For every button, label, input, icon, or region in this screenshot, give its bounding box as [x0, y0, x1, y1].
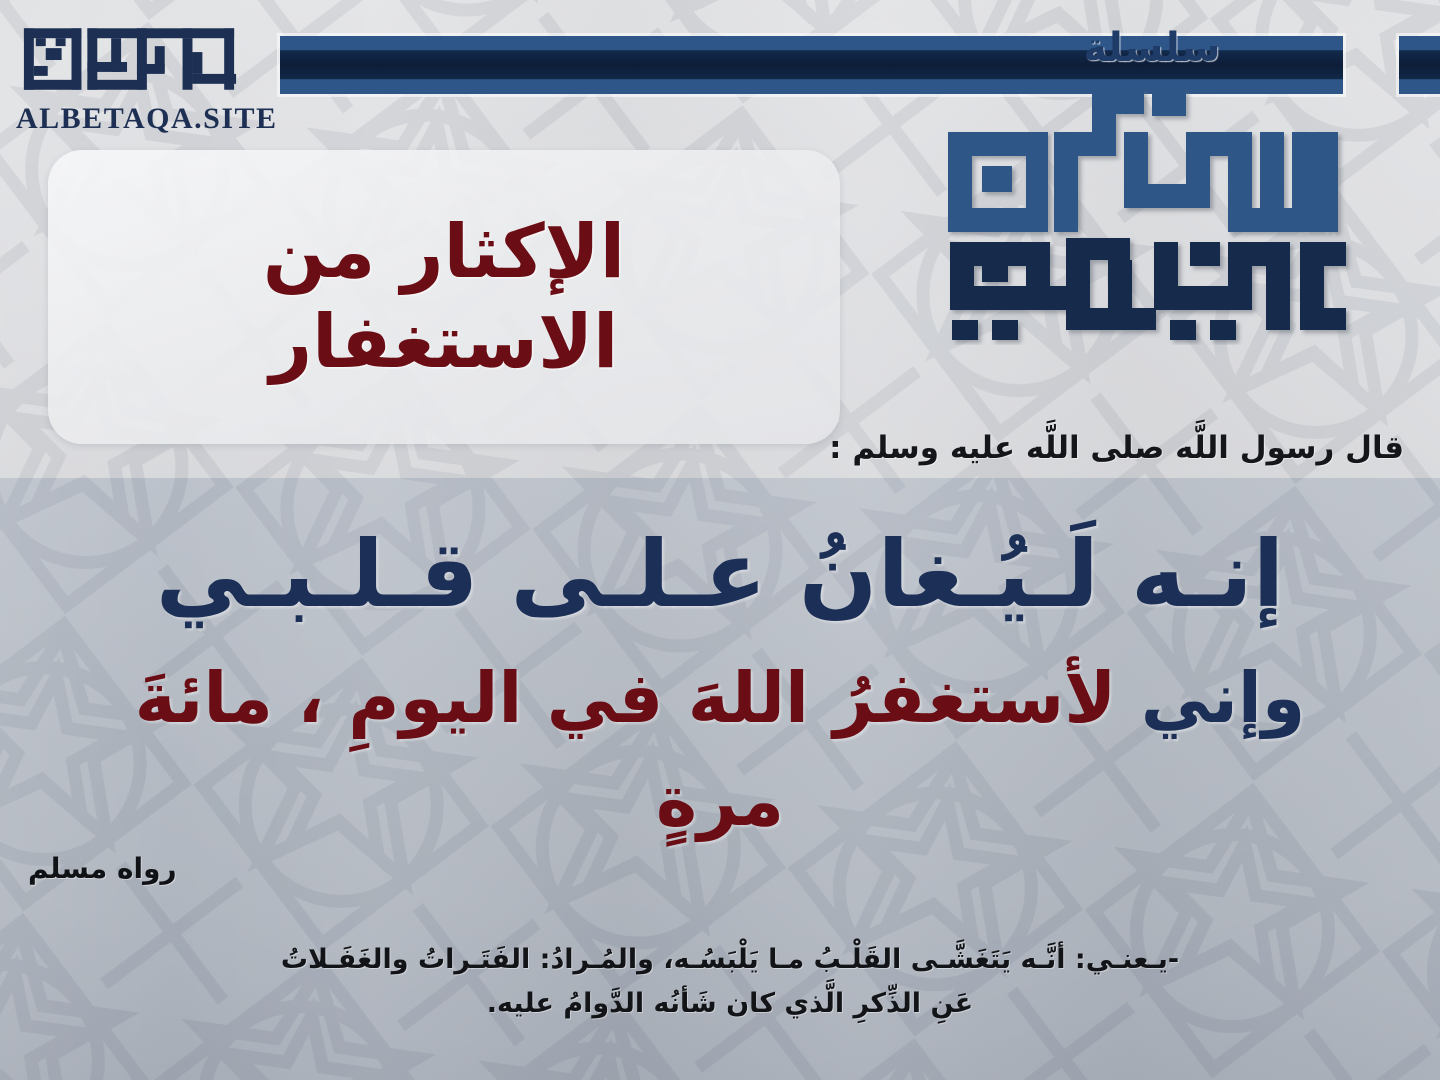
- series-logo: سلسلة: [942, 28, 1362, 345]
- brand-logo[interactable]: ALBETAQA.SITE: [16, 22, 266, 134]
- title-panel: الإكثار من الاستغفار: [48, 150, 840, 444]
- hadith-line-2: وإني لأستغفرُ اللهَ في اليومِ ، مائةَ مر…: [0, 647, 1440, 854]
- explanation-text: -يـعنـي: أنَّـه يَتَغَشَّـى القَلْـبُ مـ…: [40, 938, 1420, 1025]
- hadith-card: ALBETAQA.SITE سلسلة: [0, 0, 1440, 1080]
- speaker-attribution: قال رسول اللَّه صلى اللَّه عليه وسلم :: [829, 430, 1404, 466]
- hadith-line-1: إنـه لَـيُـغانُ عـلـى قـلـبـي: [0, 510, 1440, 641]
- explanation-line-1: -يـعنـي: أنَّـه يَتَغَشَّـى القَلْـبُ مـ…: [40, 938, 1420, 982]
- hadith-line-2-navy: وإني: [1141, 657, 1306, 739]
- page-title: الإكثار من الاستغفار: [239, 207, 649, 388]
- kufic-albetaqa-icon: [16, 22, 246, 102]
- header-stripe-bar-right-cap: [1399, 36, 1440, 94]
- hadith-line-2-rest: لأستغفرُ اللهَ في اليومِ ، مائةَ مرةٍ: [135, 657, 1117, 843]
- title-line-2: الاستغفار: [270, 299, 619, 385]
- brand-site-name: ALBETAQA.SITE: [16, 104, 266, 134]
- title-line-1: الإكثار من: [263, 209, 625, 295]
- kufic-sunan-nabawiyya-icon: [942, 70, 1362, 345]
- hadith-body: إنـه لَـيُـغانُ عـلـى قـلـبـي وإني لأستغ…: [0, 510, 1440, 854]
- series-label: سلسلة: [942, 28, 1362, 68]
- hadith-source: رواه مسلم: [28, 852, 177, 885]
- explanation-line-2: عَنِ الذِّكرِ الَّذي كان شَأنُه الدَّوام…: [40, 982, 1420, 1026]
